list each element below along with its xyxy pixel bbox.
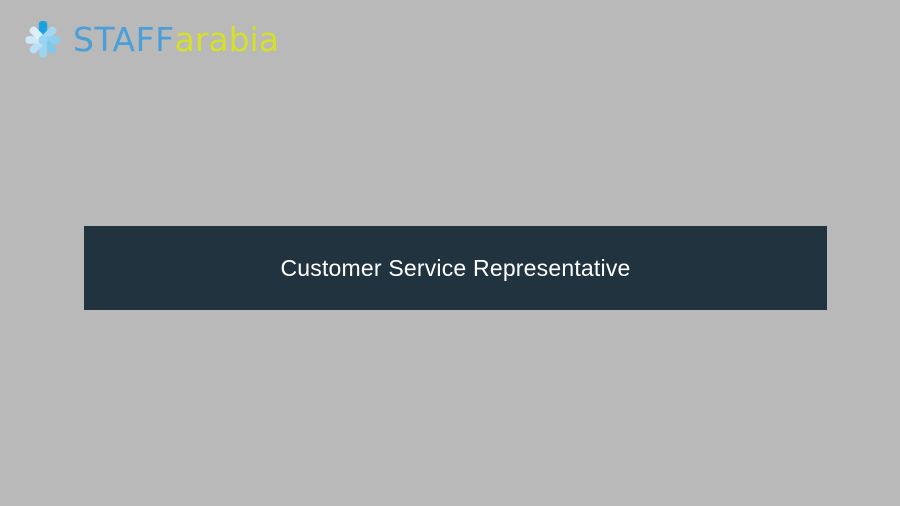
brand-wordmark: STAFF arabia (73, 16, 279, 64)
page-title: Customer Service Representative (280, 255, 630, 282)
slide-canvas: STAFF arabia Customer Service Representa… (0, 0, 900, 506)
wordmark-arabia: arabia (175, 16, 279, 64)
title-banner: Customer Service Representative (84, 226, 827, 310)
wordmark-staff: STAFF (73, 16, 175, 64)
brand-logo: STAFF arabia (19, 16, 279, 64)
pinwheel-logo-icon (19, 16, 67, 64)
